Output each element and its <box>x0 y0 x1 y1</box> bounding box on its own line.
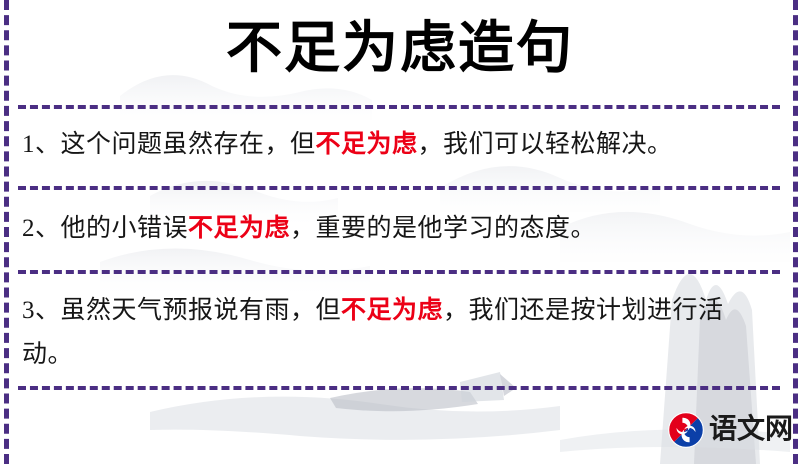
site-logo[interactable]: 语文网 <box>668 408 792 452</box>
site-logo-text: 语文网 <box>709 416 793 444</box>
divider-after-sentence-3 <box>18 386 780 390</box>
border-dashed-left <box>4 0 9 464</box>
page-title: 不足为虑造句 <box>0 16 800 83</box>
sentence-3-before: 虽然天气预报说有雨，但 <box>61 297 342 324</box>
sentence-2-index: 2、 <box>22 215 61 242</box>
divider-below-title <box>18 105 780 109</box>
example-sentence-2: 2、他的小错误不足为虑，重要的是他学习的态度。 <box>22 207 774 251</box>
sentence-2-before: 他的小错误 <box>61 215 189 242</box>
sentence-2-keyword: 不足为虑 <box>188 215 290 242</box>
sentence-1-index: 1、 <box>22 131 61 158</box>
sentence-1-before: 这个问题虽然存在，但 <box>61 131 316 158</box>
sentence-3-index: 3、 <box>22 297 61 324</box>
example-sentence-1: 1、这个问题虽然存在，但不足为虑，我们可以轻松解决。 <box>22 123 774 167</box>
sentence-1-after: ，我们可以轻松解决。 <box>418 131 673 158</box>
border-dashed-right <box>793 0 798 464</box>
sentence-2-after: ，重要的是他学习的态度。 <box>290 215 596 242</box>
divider-after-sentence-2 <box>18 270 780 274</box>
sentence-3-keyword: 不足为虑 <box>341 297 443 324</box>
divider-after-sentence-1 <box>18 186 780 190</box>
taiji-circle-icon <box>668 412 704 448</box>
example-sentence-3: 3、虽然天气预报说有雨，但不足为虑，我们还是按计划进行活动。 <box>22 289 774 377</box>
sentence-1-keyword: 不足为虑 <box>316 131 418 158</box>
worksheet-page: 不足为虑造句 1、这个问题虽然存在，但不足为虑，我们可以轻松解决。 2、他的小错… <box>0 0 800 464</box>
